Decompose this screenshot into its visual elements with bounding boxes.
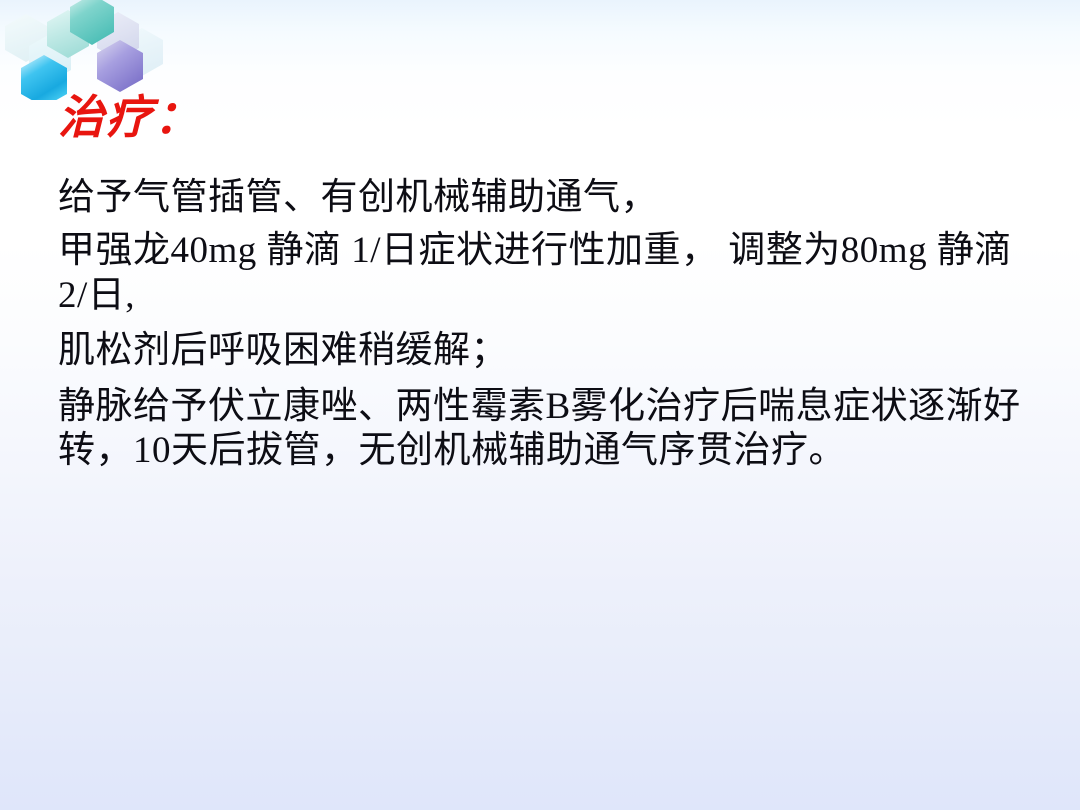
body-paragraph-3: 肌松剂后呼吸困难稍缓解；: [58, 329, 1026, 373]
body-paragraph-4: 静脉给予伏立康唑、两性霉素B雾化治疗后喘息症状逐渐好转，10天后拔管，无创机械辅…: [58, 385, 1026, 474]
hex-pale-left-icon: [5, 14, 47, 62]
slide-body: 给予气管插管、有创机械辅助通气， 甲强龙40mg 静滴 1/日症状进行性加重， …: [58, 176, 1026, 473]
slide-title: 治疗：: [58, 94, 202, 142]
slide-canvas: 治疗： 给予气管插管、有创机械辅助通气， 甲强龙40mg 静滴 1/日症状进行性…: [0, 0, 1080, 810]
hex-lavender-pale-icon: [97, 12, 139, 60]
hexagon-cluster-svg: [0, 0, 180, 100]
hex-teal-top-icon: [70, 0, 114, 45]
hex-pale-lower-left-icon: [29, 34, 71, 82]
hexagon-cluster-decoration: [0, 0, 180, 100]
hex-pale-right-icon: [121, 28, 163, 76]
hex-purple-icon: [97, 40, 143, 92]
body-paragraph-2: 甲强龙40mg 静滴 1/日症状进行性加重， 调整为80mg 静滴 2/日,: [58, 229, 1026, 318]
hex-mint-mid-icon: [47, 10, 89, 58]
body-paragraph-1: 给予气管插管、有创机械辅助通气，: [58, 176, 1026, 220]
